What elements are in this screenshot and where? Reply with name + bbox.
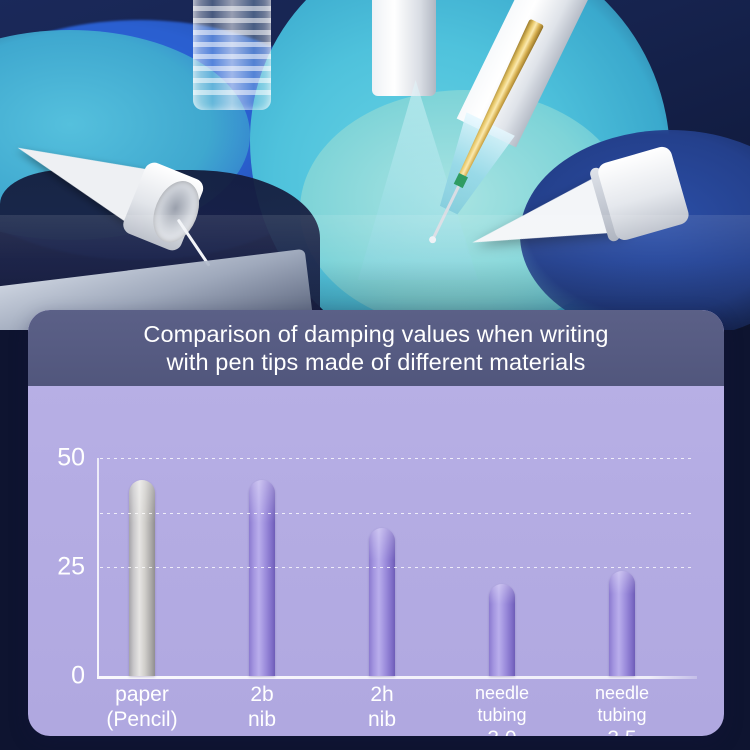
bar-gloss xyxy=(249,480,275,676)
chart-title-line-2: with pen tips made of different material… xyxy=(143,348,608,376)
x-tick-label-line: nib xyxy=(322,707,442,732)
bar-gloss xyxy=(369,528,395,676)
chart-plot-area: 02550 paper(Pencil)2bnib2hnibneedletubin… xyxy=(28,386,724,736)
glass-vial-icon xyxy=(193,0,271,110)
x-tick-label: 2hnib xyxy=(322,682,442,732)
bar-group xyxy=(97,386,697,678)
chart-title-line-1: Comparison of damping values when writin… xyxy=(143,321,608,347)
x-tick-label: needletubing3.0 xyxy=(442,682,562,736)
x-tick-label-line: needle xyxy=(562,682,682,704)
x-tick-label: 2bnib xyxy=(202,682,322,732)
x-tick-label-line: needle xyxy=(442,682,562,704)
stylus-barrel-rear xyxy=(372,0,436,96)
bar-slot[interactable] xyxy=(609,571,635,676)
bar[interactable] xyxy=(249,480,275,676)
y-axis-labels: 02550 xyxy=(28,386,97,686)
bar-slot[interactable] xyxy=(489,584,515,676)
chart-card: Comparison of damping values when writin… xyxy=(28,310,724,736)
bar[interactable] xyxy=(129,480,155,676)
x-tick-label-line: (Pencil) xyxy=(82,707,202,732)
x-tick-label-line: 3.5 xyxy=(562,726,682,736)
bar-gloss xyxy=(489,584,515,676)
bar[interactable] xyxy=(489,584,515,676)
x-tick-label-line: nib xyxy=(202,707,322,732)
x-tick-label-line: paper xyxy=(82,682,202,707)
x-tick-label-line: 2b xyxy=(202,682,322,707)
grid-line xyxy=(100,513,694,514)
x-tick-label-line: 3.0 xyxy=(442,726,562,736)
bar-gloss xyxy=(609,571,635,676)
grid-line xyxy=(100,458,694,459)
chart-card-header: Comparison of damping values when writin… xyxy=(28,310,724,386)
y-tick-label: 25 xyxy=(57,555,85,580)
product-photo xyxy=(0,0,750,330)
screenshot-root: Comparison of damping values when writin… xyxy=(0,0,750,750)
y-tick-label: 50 xyxy=(57,446,85,471)
bar-gloss xyxy=(129,480,155,676)
grid-line xyxy=(100,567,694,568)
bar[interactable] xyxy=(369,528,395,676)
x-axis-labels: paper(Pencil)2bnib2hnibneedletubing3.0ne… xyxy=(97,682,697,736)
x-tick-label-line: tubing xyxy=(442,704,562,726)
x-tick-label: paper(Pencil) xyxy=(82,682,202,732)
x-tick-label-line: tubing xyxy=(562,704,682,726)
bar-slot[interactable] xyxy=(369,528,395,676)
x-tick-label-line: 2h xyxy=(322,682,442,707)
bar[interactable] xyxy=(609,571,635,676)
chart-title: Comparison of damping values when writin… xyxy=(115,320,636,376)
bar-slot[interactable] xyxy=(129,480,155,676)
bar-slot[interactable] xyxy=(249,480,275,676)
x-tick-label: needletubing3.5 xyxy=(562,682,682,736)
